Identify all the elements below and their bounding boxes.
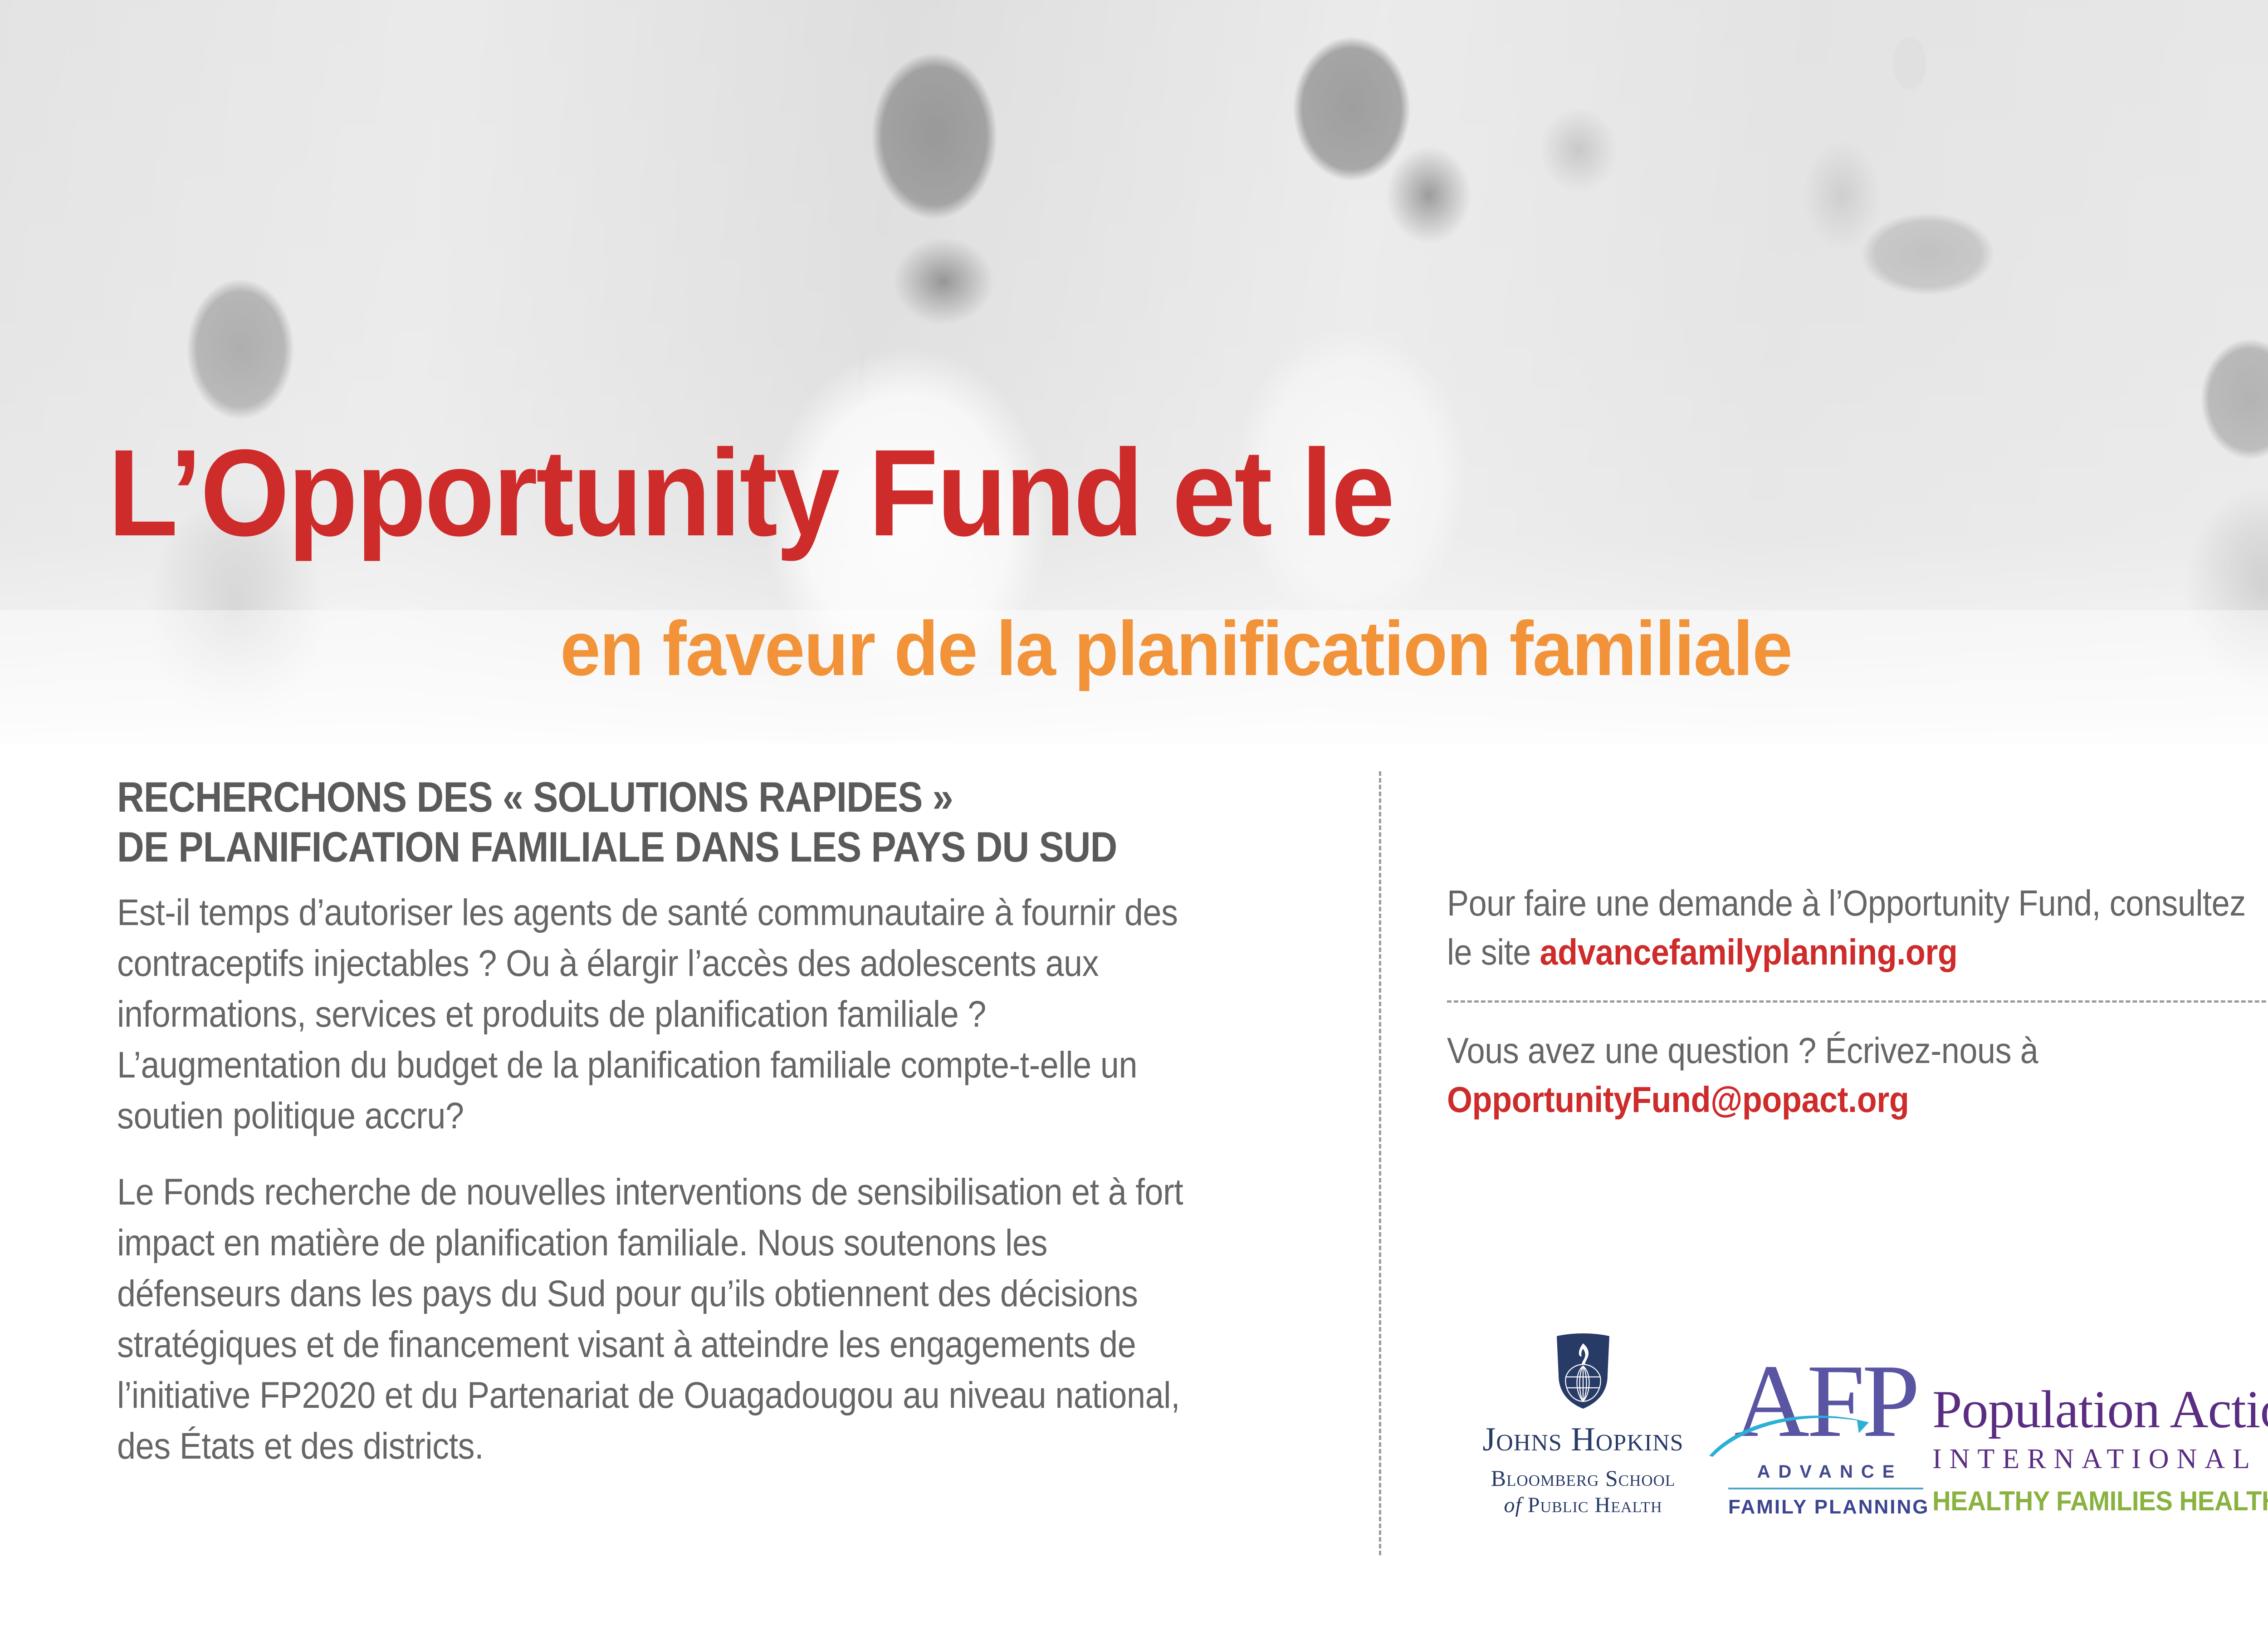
page-title: L’Opportunity Fund et le [108,431,2217,554]
pai-international: INTERNATIONAL [1932,1442,2258,1476]
right-column: Pour faire une demande à l’Opportunity F… [1447,879,2268,1124]
afp-mark: AFP [1728,1349,1923,1461]
right-column-divider [1447,1000,2268,1003]
email-link[interactable]: OpportunityFund@popact.org [1447,1075,2263,1124]
afp-advance-word: ADVANCE [1728,1461,1923,1482]
kicker-line-2: DE PLANIFICATION FAMILIALE DANS LES PAYS… [117,822,1195,872]
pai-tagline: HEALTHY FAMILIES HEALTHY PLANET [1932,1486,2268,1517]
page-subtitle: en faveur de la planification familiale [560,610,2268,687]
column-divider [1379,771,1381,1555]
left-column: RECHERCHONS DES « SOLUTIONS RAPIDES » DE… [117,772,1342,1472]
afp-rule [1728,1488,1923,1489]
jhu-public-health: Public Health [1522,1493,1662,1517]
afp-swoosh-icon [1709,1400,1900,1459]
question-label: Vous avez une question ? Écrivez-nous à [1447,1030,2038,1071]
pai-name: Population Action [1932,1381,2268,1438]
jhu-shield-torch-globe-icon [1555,1333,1611,1410]
section-kicker: RECHERCHONS DES « SOLUTIONS RAPIDES » DE… [117,772,1195,872]
hero-banner: L’Opportunity Fund et le en faveur de la… [0,0,2268,745]
logo-pai: Population Action INTERNATIONAL HEALTHY … [1932,1381,2268,1518]
contact-instructions: Vous avez une question ? Écrivez-nous à … [1447,1026,2263,1124]
partner-logos: Johns Hopkins Bloomberg School of Public… [1447,1314,2268,1518]
jhu-of-word: of [1504,1493,1522,1517]
logo-afp: AFP ADVANCE FAMILY PLANNING [1719,1349,1932,1518]
jhu-school: Bloomberg School [1491,1464,1676,1492]
body-paragraph-2: Le Fonds recherche de nouvelles interven… [117,1167,1219,1472]
jhu-name: Johns Hopkins [1482,1421,1683,1458]
afp-family-planning: FAMILY PLANNING [1728,1496,1923,1518]
body-paragraph-1: Est-il temps d’autoriser les agents de s… [117,887,1219,1141]
logo-johns-hopkins: Johns Hopkins Bloomberg School of Public… [1447,1333,1719,1518]
jhu-department: of Public Health [1504,1492,1662,1518]
kicker-line-1: RECHERCHONS DES « SOLUTIONS RAPIDES » [117,773,953,821]
apply-instructions: Pour faire une demande à l’Opportunity F… [1447,879,2263,977]
content-area: RECHERCHONS DES « SOLUTIONS RAPIDES » DE… [0,745,2268,1626]
website-link[interactable]: advancefamilyplanning.org [1540,932,1957,972]
